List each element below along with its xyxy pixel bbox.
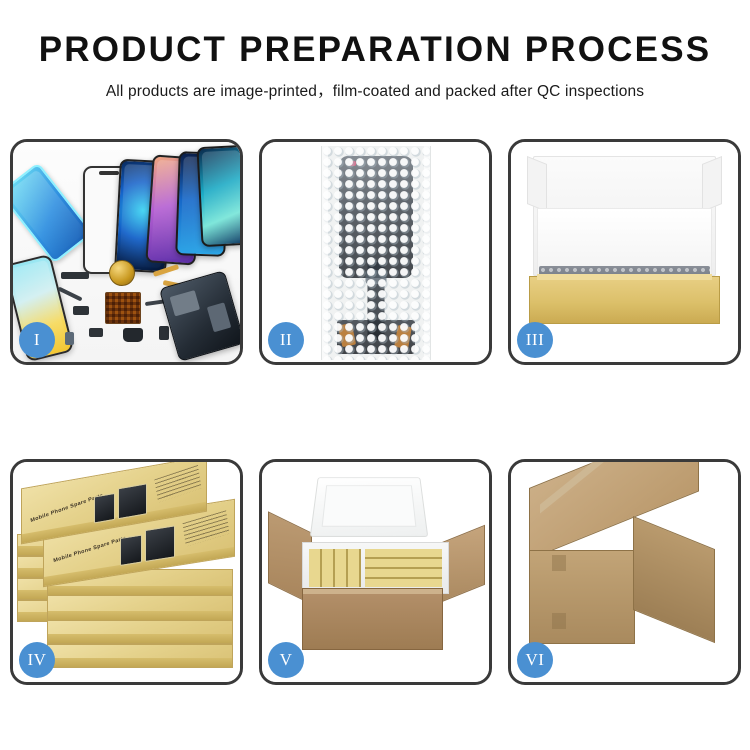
carton-tab — [552, 613, 566, 629]
yellow-boxes-vertical — [309, 549, 361, 587]
blue-phone-back-icon — [13, 162, 93, 264]
stacked-box — [47, 644, 233, 668]
carton-front-face — [529, 550, 635, 644]
carton-opening — [302, 542, 449, 594]
carton-body — [302, 588, 443, 650]
shipping-carton — [529, 488, 719, 648]
process-step-3: III — [508, 139, 741, 365]
kraft-tray-box — [527, 156, 722, 324]
step-badge-6: VI — [517, 642, 553, 678]
step-badge-2: II — [268, 322, 304, 358]
copper-grid-part-icon — [105, 292, 141, 324]
bubble-texture — [322, 146, 430, 360]
chip-part-icon — [89, 328, 103, 337]
stacked-box — [47, 620, 233, 644]
step-badge-5: V — [268, 642, 304, 678]
packing-tape — [540, 462, 700, 514]
process-step-grid: I II — [10, 139, 740, 685]
process-step-5: V — [259, 459, 492, 685]
bag-edge — [322, 146, 328, 360]
process-step-1: I — [10, 139, 243, 365]
step-badge-3: III — [517, 322, 553, 358]
step-badge-1: I — [19, 322, 55, 358]
front-camera-icon — [159, 326, 169, 340]
process-step-2: II — [259, 139, 492, 365]
page-title: PRODUCT PREPARATION PROCESS — [0, 30, 750, 70]
small-part-icon — [65, 332, 74, 345]
chip-part-icon — [73, 306, 89, 315]
chip-part-icon — [61, 272, 89, 279]
yellow-boxes-horizontal — [365, 549, 442, 587]
page-subtitle: All products are image-printed，film-coat… — [0, 79, 750, 101]
carton-side-face — [633, 516, 715, 643]
box-stack: Mobile Phone Spare Parts Mobile Phone Sp… — [17, 470, 236, 676]
box-body — [529, 276, 720, 324]
foam-lid — [310, 477, 429, 537]
box-lid-flap-left — [527, 156, 547, 212]
stacked-box — [47, 595, 233, 621]
step-badge-4: IV — [19, 642, 55, 678]
box-lid-flap-right — [702, 156, 722, 212]
process-step-4: Mobile Phone Spare Parts Mobile Phone Sp… — [10, 459, 243, 685]
header: PRODUCT PREPARATION PROCESS All products… — [0, 0, 750, 101]
speaker-part-icon — [123, 328, 143, 342]
bag-edge — [424, 146, 430, 360]
product-preparation-infographic: PRODUCT PREPARATION PROCESS All products… — [0, 0, 750, 750]
process-step-6: VI — [508, 459, 741, 685]
teal-phone-icon — [196, 145, 240, 247]
bubble-wrap-bag — [321, 146, 431, 360]
camera-module-icon — [109, 260, 135, 286]
carton-tab — [552, 555, 566, 571]
